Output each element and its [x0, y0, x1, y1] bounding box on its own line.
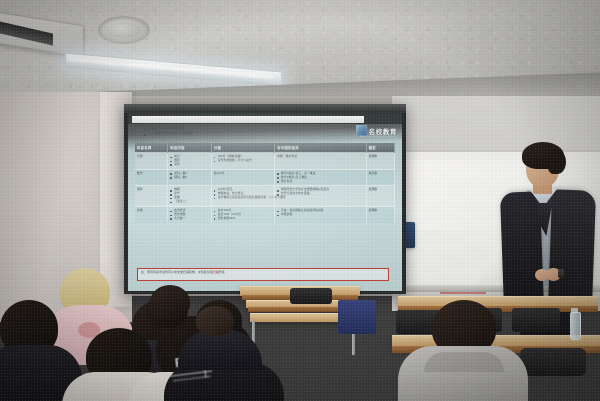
- cell-subject: 文综: [135, 207, 168, 223]
- projected-slide: 日本留学生高等的内容及特点 —— 通用以试考试内容、分值及特点 名校教育 MEI…: [128, 113, 402, 291]
- cell-type: 填空题: [366, 169, 394, 186]
- slide-table: 科目名称 科目内容 分值 与中国的差异 题型 日语 听力 阅读 写作: [135, 143, 395, 223]
- slide-bullet: —— 通用以试考试内容、分值及特点: [144, 132, 294, 136]
- th-score: 分值: [211, 143, 274, 153]
- slide-bullet-list: 日本留学生高等的内容及特点 —— 通用以试考试内容、分值及特点: [144, 127, 294, 137]
- chair: [290, 288, 332, 304]
- list-item: 中国比较: [277, 213, 364, 217]
- cell-type: 选择题: [366, 186, 394, 207]
- th-subject: 科目名称: [135, 143, 168, 153]
- cell-subject: 数学: [135, 169, 168, 186]
- cell-score: 各200分: [211, 169, 274, 186]
- bullet-dot-icon: [144, 134, 146, 136]
- slide-bullet-text: —— 通用以试考试内容、分值及特点: [148, 132, 194, 135]
- chair: [520, 348, 586, 376]
- list-item: 写作: [170, 163, 209, 167]
- cell-difference: 数学1难度≈初三、高一难度 数学2难度≈高二难度 微分积分: [275, 169, 367, 186]
- cell-content: 文科—数1 理科—数2: [168, 169, 212, 186]
- list-item: 微分积分: [277, 180, 364, 184]
- table-row: 文综 政治经济 历史地理 大字统一 总分200分 政冶70%（140分） 历史地…: [135, 207, 395, 223]
- wristwatch-icon: [558, 269, 564, 278]
- cell-subject: 日语: [135, 153, 168, 170]
- slide-note: 注：所有科目考试均可以中文或日语答卷，文科建议用日语作答: [141, 270, 225, 274]
- water-bottle-icon: [570, 312, 581, 340]
- attendee-head: [150, 285, 190, 319]
- bullet-dot-icon: [144, 129, 146, 131]
- note-suffix: 作答: [219, 270, 225, 274]
- table-row: 数学 文科—数1 理科—数2 各200分 数学1难度≈初三、高一难度 数学2难度…: [135, 169, 395, 186]
- logo-subtitle: MEIKOU EDUCATION GROUP: [360, 136, 397, 138]
- slide-bullet-text: 日本留学生高等的内容及特点: [148, 127, 184, 130]
- list-item: 写作为附加题，不计入总分: [214, 159, 272, 163]
- cell-difference: 中国：语文考试: [275, 153, 367, 170]
- th-difference: 与中国的差异: [275, 143, 367, 153]
- table-row: 日语 听力 阅读 写作 400分（听解/读解） 写作为附加题，不计入总分: [135, 153, 395, 170]
- slide-bullet: 日本留学生高等的内容及特点: [144, 127, 294, 131]
- cell-difference: 物理无热力学的考法或要求相似程度高 化学元素的为中文语速。: [275, 186, 367, 207]
- photo-scene: 日本留学生高等的内容及特点 —— 通用以试考试内容、分值及特点 名校教育 MEI…: [0, 0, 600, 401]
- cell-content: 物理 化学 生物 （选考二）: [168, 186, 212, 207]
- projection-screen-rail: [124, 104, 406, 113]
- whiteboard-red-mark: [440, 292, 486, 294]
- cell-score: 100分/科目。 物理电进、热力重点。 化学物质元素及性质均为载名题类列举、ベン…: [211, 186, 274, 207]
- cell-type: 选择题: [366, 153, 394, 170]
- list-item: （选考二）: [170, 200, 209, 204]
- brand-logo: 名校教育: [356, 125, 397, 136]
- th-content: 科目内容: [168, 143, 212, 153]
- table-row: 理科 物理 化学 生物 （选考二） 100分/科目。 物理电进、热力重点。: [135, 186, 395, 207]
- list-item: 化学物质元素及性质均为载名题类列举、ベンゼン图环: [214, 196, 272, 200]
- cell-content: 政治经济 历史地理 大字统一: [168, 207, 212, 223]
- logo-text: 名校教育: [369, 126, 397, 136]
- list-item: 理科—数2: [170, 176, 209, 180]
- hoodie-hood: [424, 352, 504, 372]
- cell-difference: 日本：和出理解之后的素养知识者 中国比较: [275, 207, 367, 223]
- list-item: 化学元素的为中文语速。: [277, 192, 364, 196]
- chair: [512, 308, 560, 332]
- accent-chair: [338, 300, 376, 334]
- attendee-head: [196, 306, 234, 336]
- note-text: 所有科目考试均可以中文或日语答卷，文科建议用: [147, 270, 213, 274]
- logo-mark-icon: [356, 125, 367, 136]
- list-item: 大字统一: [170, 217, 209, 221]
- slide-title-bar: [132, 116, 364, 123]
- cell-score: 400分（听解/读解） 写作为附加题，不计入总分: [211, 153, 274, 170]
- presenter-hair-back: [548, 149, 566, 174]
- cell-score: 总分200分 政冶70%（140分） 历史地理30%: [211, 207, 274, 223]
- table-header-row: 科目名称 科目内容 分值 与中国的差异 题型: [135, 143, 395, 153]
- cell-subject: 理科: [135, 186, 168, 207]
- cell-content: 听力 阅读 写作: [168, 153, 212, 170]
- presenter-jacket-right: [548, 189, 596, 310]
- cell-type: 选择题: [366, 207, 394, 223]
- ceiling-speaker-icon: [98, 16, 150, 44]
- list-item: 历史地理30%: [214, 217, 272, 221]
- vent-slot: [0, 20, 53, 46]
- th-type: 题型: [366, 143, 394, 153]
